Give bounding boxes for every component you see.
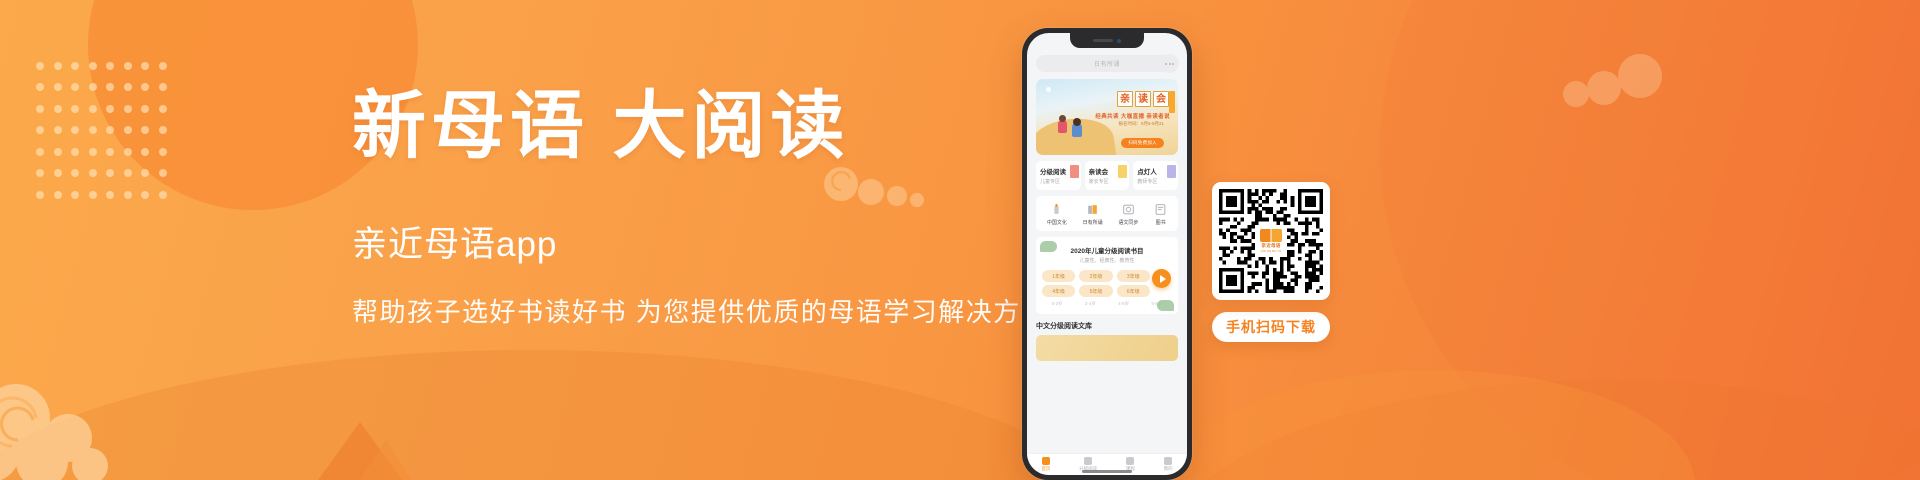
home-indicator [1082,470,1132,473]
grade-button[interactable]: 6年级 [1117,285,1150,297]
quick-link-textbook-sync[interactable]: 语文同步 [1118,203,1138,226]
tab-home[interactable]: 首页 [1041,457,1050,472]
tagline-text: 帮助孩子选好书读好书 为您提供优质的母语学习解决方案 [352,292,1052,329]
daily-recite-icon [1086,203,1099,216]
user-icon [1164,457,1172,465]
books-icon [1154,203,1167,216]
decorative-triangle-large [318,422,402,480]
hero-date: 报名时间：9月6-9月21 [1118,121,1164,127]
camera-icon [1117,39,1121,43]
more-options-icon[interactable] [1160,54,1179,73]
brand-name-cn: 亲近母语 [1261,243,1280,249]
grade-button[interactable]: 3年级 [1117,270,1150,282]
quick-link-label: 语文同步 [1118,219,1138,226]
grade-button[interactable]: 5年级 [1079,285,1112,297]
hero-title-char: 亲 [1117,91,1133,107]
book-icon [1084,457,1092,465]
page-title: 新母语 大阅读 [352,88,1052,168]
play-video-button[interactable] [1152,269,1171,288]
quick-icon-row: 中国文化 日有所诵 语文同步 [1036,196,1178,231]
hero-subtitle: 经典共读 大咖直播 亲读者说 [1095,112,1170,120]
category-sub: 家长专区 [1089,178,1126,185]
tab-label: 首页 [1041,466,1050,472]
phone-mockup: 日有所诵 亲 读 会 经典共读 大咖直播 亲读者说 报名时间：9月6-9月21 … [1022,28,1192,480]
child-illustration-2 [1072,123,1082,137]
decorative-dot-grid [36,62,176,212]
hero-join-button[interactable]: 扫码免费加入 [1121,138,1164,148]
category-card-row: 分级阅读 儿童专区 亲读会 家长专区 点灯人 教师专区 [1036,161,1178,190]
quick-link-books[interactable]: 图书 [1154,203,1167,226]
decorative-hill-right [1160,380,1920,480]
qr-download-block: 亲近母语 QIN JIN MU YU 手机扫码下载 [1212,182,1330,342]
age-range-group: 0-3岁 3-4岁 4-5岁 5-6岁 [1042,301,1172,307]
sun-icon [1046,87,1051,92]
cloud-icon-bottom-left [0,366,162,480]
brand-name-en: QIN JIN MU YU [1261,250,1282,253]
quick-link-label: 日有所诵 [1083,219,1103,226]
decorative-triangle-small [360,440,412,480]
home-icon [1042,457,1050,465]
library-card[interactable] [1036,335,1178,361]
book-icon [1070,165,1079,178]
category-card[interactable]: 点灯人 教师专区 [1133,161,1178,190]
tab-label: 我的 [1164,466,1173,472]
category-sub: 儿童专区 [1040,178,1077,185]
booklist-title: 2020年儿童分级阅读书目 [1042,245,1172,255]
chinese-culture-icon [1050,203,1063,216]
category-card[interactable]: 分级阅读 儿童专区 [1036,161,1081,190]
phone-screen: 日有所诵 亲 读 会 经典共读 大咖直播 亲读者说 报名时间：9月6-9月21 … [1027,33,1187,475]
search-input[interactable]: 日有所诵 [1036,55,1178,72]
copy-block: 新母语 大阅读 亲近母语app 帮助孩子选好书读好书 为您提供优质的母语学习解决… [352,88,1052,329]
app-name-label: 亲近母语app [352,216,1052,267]
phone-notch [1070,33,1144,48]
ribbon-icon [1169,91,1175,113]
speaker-icon [1093,39,1113,42]
hero-title: 亲 读 会 [1117,91,1169,107]
hero-title-char: 会 [1153,91,1169,107]
grade-button[interactable]: 2年级 [1079,270,1112,282]
qr-code[interactable]: 亲近母语 QIN JIN MU YU [1212,182,1330,300]
cloud-icon-top-right [1550,36,1670,116]
course-icon [1126,457,1134,465]
hero-promo-card[interactable]: 亲 读 会 经典共读 大咖直播 亲读者说 报名时间：9月6-9月21 扫码免费加… [1036,79,1178,155]
leaf-icon [1157,300,1174,311]
textbook-sync-icon [1122,203,1135,216]
book-icon [1118,165,1127,178]
hero-title-char: 读 [1135,91,1151,107]
category-card[interactable]: 亲读会 家长专区 [1085,161,1130,190]
age-range-label[interactable]: 4-5岁 [1109,301,1139,307]
category-sub: 教师专区 [1137,178,1174,185]
booklist-card[interactable]: 2020年儿童分级阅读书目 儿童性、经典性、教育性 1年级 2年级 3年级 4年… [1036,237,1178,314]
quick-link-label: 图书 [1156,219,1166,226]
quick-link-label: 中国文化 [1047,219,1067,226]
decorative-ellipse-phone [1175,370,1695,480]
age-range-label[interactable]: 3-4岁 [1075,301,1105,307]
decorative-hill-left [0,350,1120,480]
brand-logo: 亲近母语 QIN JIN MU YU [1256,226,1286,256]
decorative-circle-right [1380,0,1920,480]
promo-banner: 新母语 大阅读 亲近母语app 帮助孩子选好书读好书 为您提供优质的母语学习解决… [0,0,1920,480]
search-placeholder: 日有所诵 [1094,59,1120,68]
grade-button[interactable]: 1年级 [1042,270,1075,282]
tab-mine[interactable]: 我的 [1164,457,1173,472]
library-section-title: 中文分级阅读文库 [1036,321,1178,331]
child-illustration-1 [1058,120,1067,133]
quick-link-daily-recite[interactable]: 日有所诵 [1083,203,1103,226]
person-icon [1167,165,1176,178]
scan-download-button[interactable]: 手机扫码下载 [1212,312,1330,342]
play-icon [1160,275,1166,283]
leaf-icon [1040,241,1057,252]
age-range-label[interactable]: 0-3岁 [1042,301,1072,307]
open-book-icon [1260,229,1282,242]
grade-button[interactable]: 4年级 [1042,285,1075,297]
quick-link-chinese-culture[interactable]: 中国文化 [1047,203,1067,226]
booklist-subtitle: 儿童性、经典性、教育性 [1042,257,1172,264]
